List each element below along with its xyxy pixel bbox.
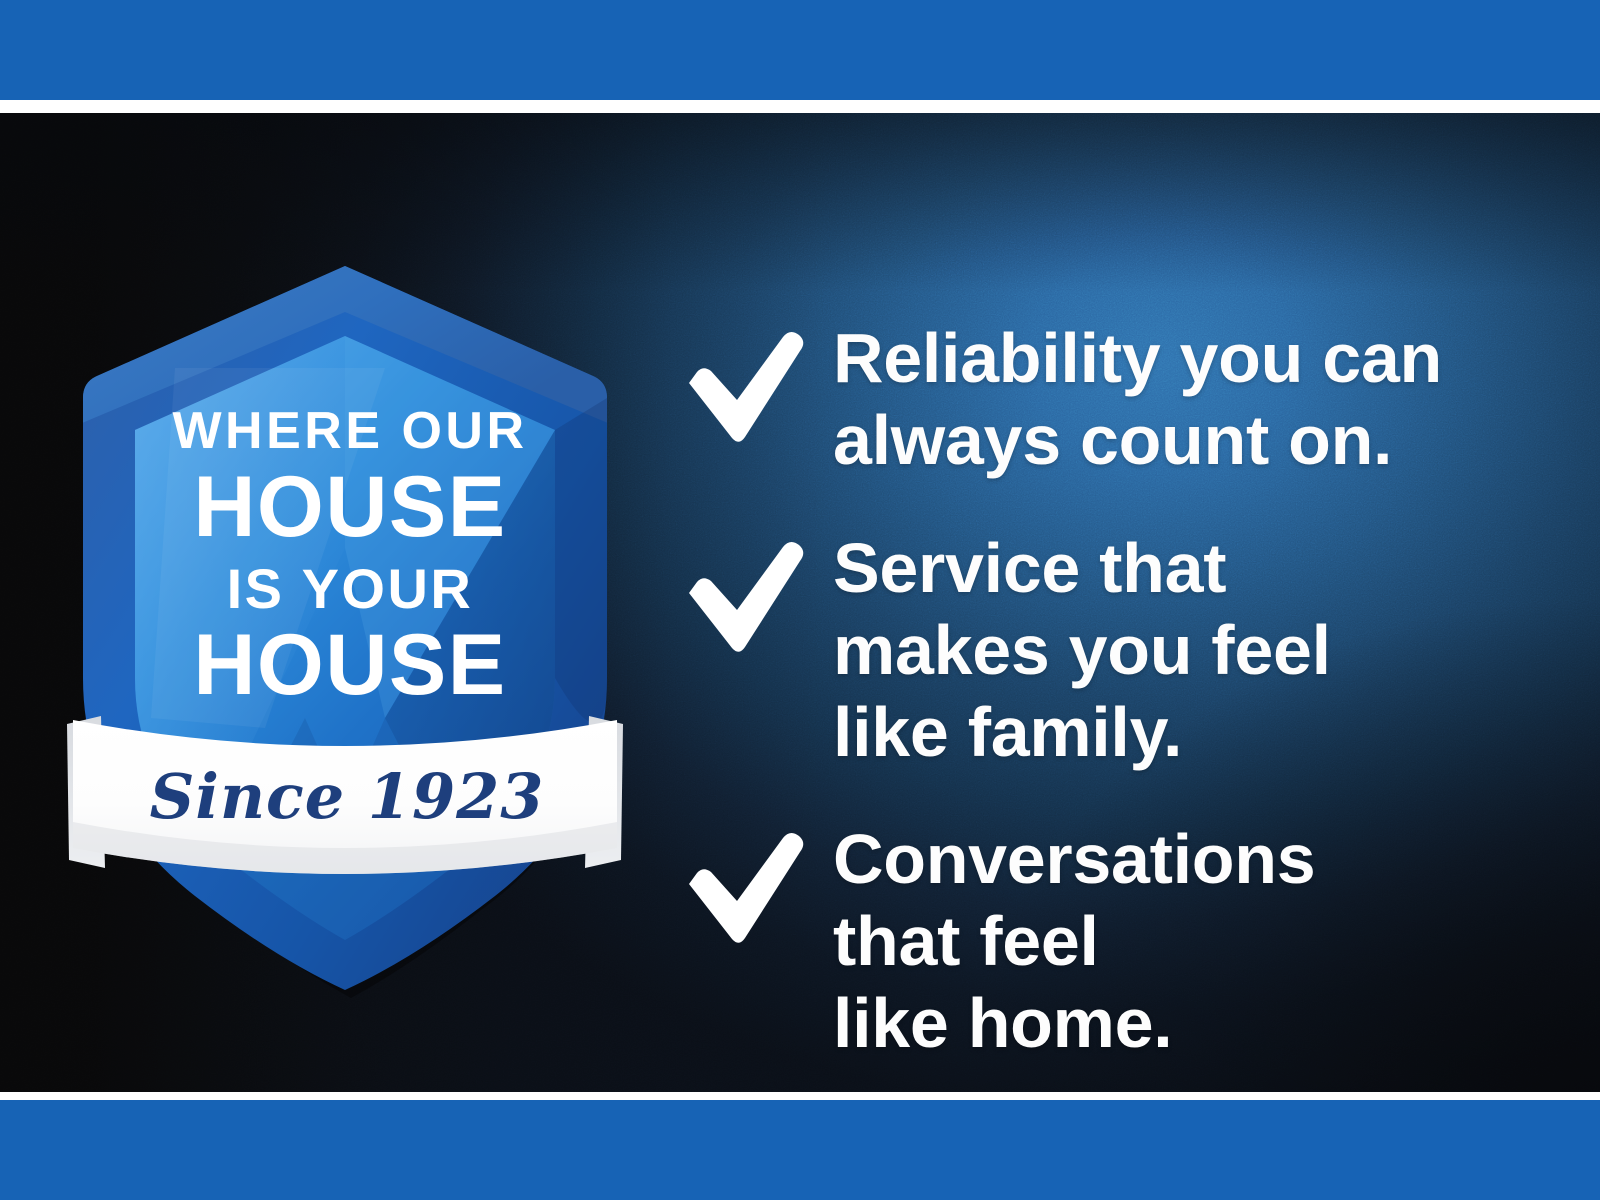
shield-line-3: IS YOUR [227, 557, 474, 620]
ribbon-label: Since 1923 [150, 760, 545, 833]
shield-bevel-right [555, 398, 607, 723]
check-icon [675, 829, 807, 947]
top-brand-bar [0, 0, 1600, 100]
benefit-item-1: Reliability you can always count on. [675, 318, 1535, 482]
main-canvas: WHERE OUR HOUSE IS YOUR HOUSE Since 1923 [0, 113, 1600, 1092]
check-icon [675, 328, 807, 446]
shield-badge: WHERE OUR HOUSE IS YOUR HOUSE Since 1923 [55, 248, 635, 948]
benefit-item-2: Service that makes you feel like family. [675, 528, 1535, 774]
bottom-brand-bar [0, 1100, 1600, 1200]
poster: WHERE OUR HOUSE IS YOUR HOUSE Since 1923 [0, 0, 1600, 1200]
benefits-list: Reliability you can always count on. Ser… [675, 318, 1535, 1065]
shield-line-4: HOUSE [193, 617, 506, 713]
benefit-item-3: Conversations that feel like home. [675, 819, 1535, 1065]
check-icon [675, 538, 807, 656]
shield-line-1: WHERE OUR [172, 402, 527, 460]
shield-line-2: HOUSE [193, 459, 506, 555]
